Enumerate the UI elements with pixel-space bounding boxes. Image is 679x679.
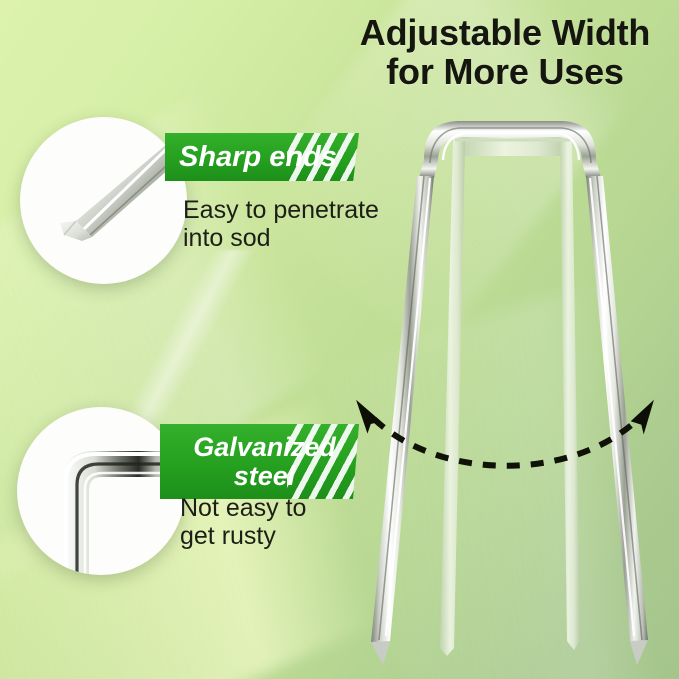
infographic-canvas: Adjustable Width for More Uses bbox=[0, 0, 679, 679]
feature-banner-label-line-1: Galvanized bbox=[193, 432, 336, 462]
caption-line-2: get rusty bbox=[180, 522, 385, 550]
feature-banner-galvanized-steel: Galvanized steel bbox=[160, 424, 359, 499]
headline-line-2: for More Uses bbox=[340, 53, 670, 92]
headline-line-1: Adjustable Width bbox=[360, 12, 650, 53]
feature-banner-label: Sharp ends bbox=[165, 141, 337, 174]
adjustable-width-arrow bbox=[330, 385, 679, 475]
caption-line-1: Easy to penetrate bbox=[183, 196, 379, 224]
feature-photo-sharp-ends bbox=[20, 117, 187, 284]
feature-caption-sharp-ends: Easy to penetrate into sod bbox=[183, 196, 393, 252]
page-title: Adjustable Width for More Uses bbox=[340, 14, 670, 92]
caption-line-2: into sod bbox=[183, 224, 393, 252]
feature-banner-sharp-ends: Sharp ends bbox=[165, 133, 359, 181]
sharp-point-closeup-illustration bbox=[20, 117, 187, 284]
feature-photo-galvanized-steel bbox=[17, 407, 185, 575]
feature-caption-galvanized-steel: Not easy to get rusty bbox=[180, 494, 385, 550]
background-light-streak bbox=[304, 246, 679, 679]
caption-line-1: Not easy to bbox=[180, 494, 306, 522]
arrow-head-right bbox=[628, 400, 658, 436]
feature-banner-label-line-2: steel bbox=[170, 462, 359, 490]
rounded-corner-closeup-illustration bbox=[17, 407, 185, 575]
front-staple bbox=[371, 121, 648, 665]
back-staple-ghost bbox=[440, 131, 580, 656]
feature-banner-label: Galvanized steel bbox=[160, 433, 359, 490]
product-illustration-garden-staple bbox=[0, 0, 679, 679]
